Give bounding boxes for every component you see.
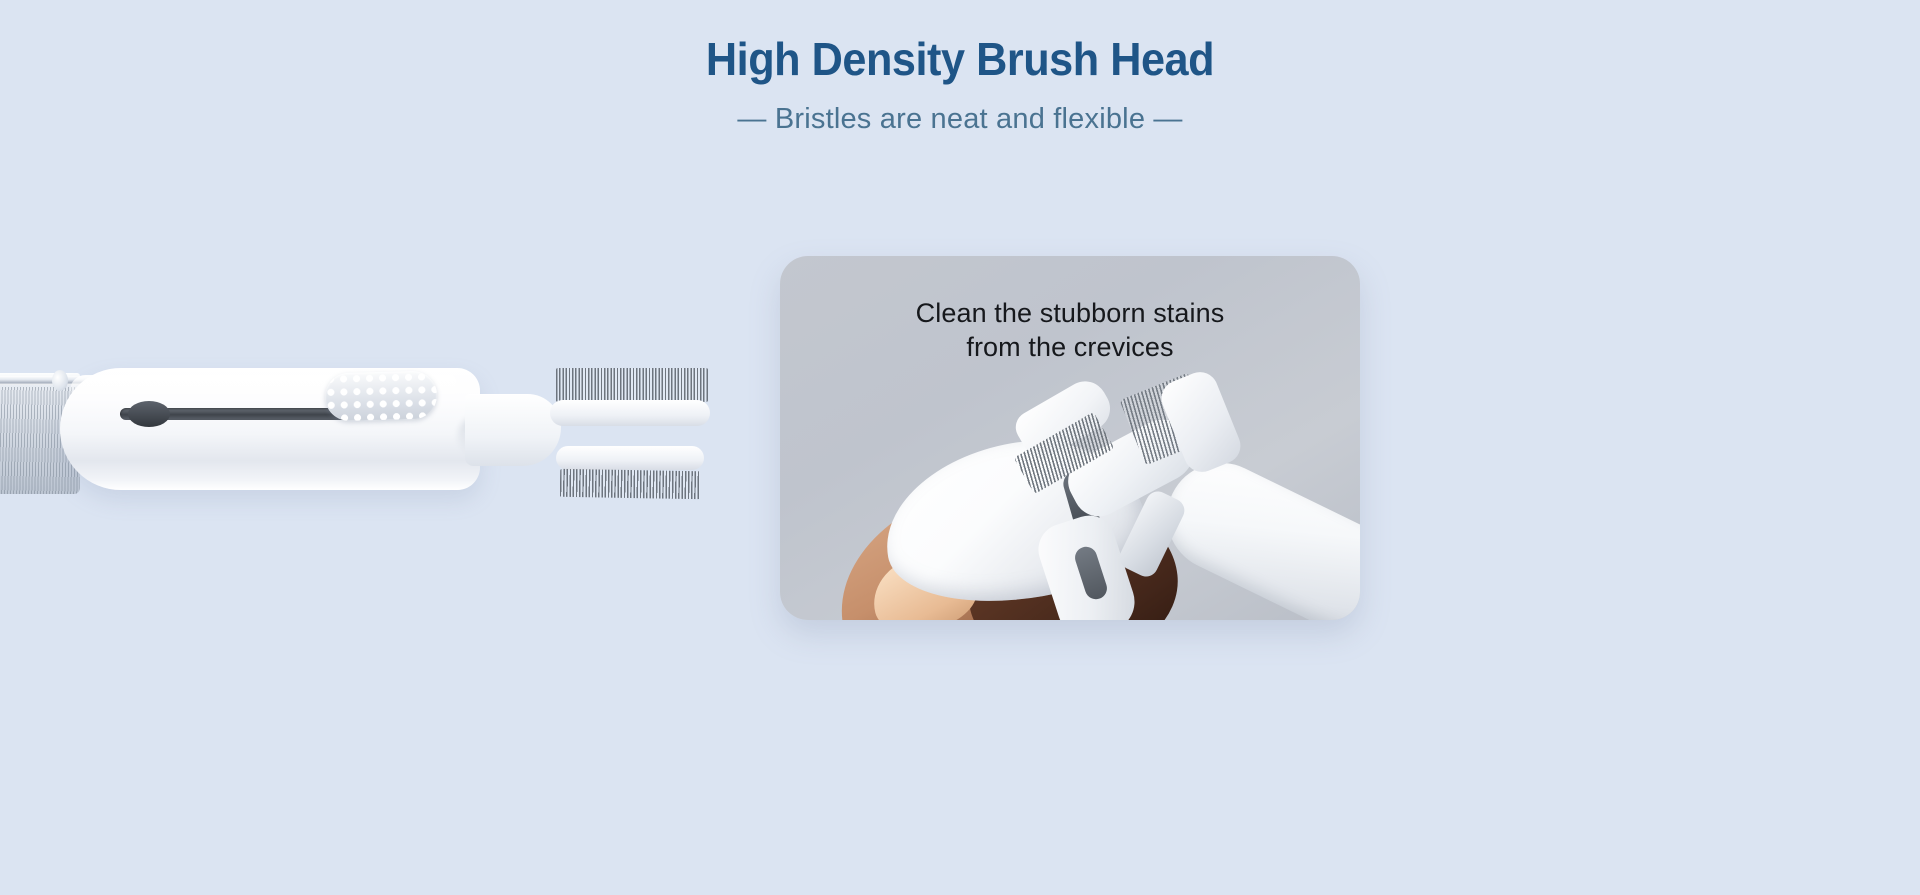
- dimpled-grip-pad: [324, 371, 437, 422]
- brush-head-arm-lower: [556, 446, 704, 470]
- lower-bristle-tuft: [560, 469, 700, 499]
- slider-thumb: [128, 401, 170, 427]
- usage-photo-card: Clean the stubborn stains from the crevi…: [780, 256, 1360, 620]
- upper-bristle-tuft: [556, 368, 708, 402]
- card-caption-line-1: Clean the stubborn stains: [780, 296, 1360, 330]
- page-subtitle: — Bristles are neat and flexible —: [0, 103, 1920, 136]
- shaft-knob: [52, 370, 68, 391]
- product-photo: [0, 330, 750, 530]
- header: High Density Brush Head — Bristles are n…: [0, 0, 1920, 136]
- brush-head-arm: [550, 400, 710, 426]
- brush-neck: [465, 394, 561, 466]
- card-caption: Clean the stubborn stains from the crevi…: [780, 296, 1360, 364]
- page-title: High Density Brush Head: [58, 34, 1863, 85]
- card-caption-line-2: from the crevices: [780, 330, 1360, 364]
